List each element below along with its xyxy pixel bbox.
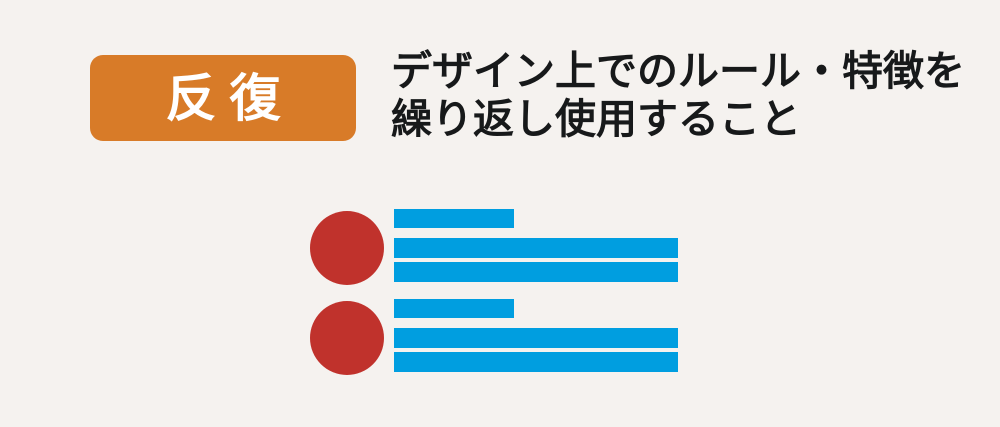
bar-short <box>394 209 514 228</box>
bullet-circle-icon <box>310 301 384 375</box>
bar-long <box>394 328 678 348</box>
bullet-circle-icon <box>310 211 384 285</box>
page-title: デザイン上でのルール・特徴を 繰り返し使用すること <box>391 47 951 143</box>
slide-canvas: 反復 デザイン上でのルール・特徴を 繰り返し使用すること <box>0 0 1000 427</box>
principle-badge: 反復 <box>90 55 356 141</box>
bar-short <box>394 299 514 318</box>
bar-stack <box>394 209 678 282</box>
repeat-group-1 <box>310 209 690 283</box>
bar-long <box>394 352 678 372</box>
bar-long <box>394 262 678 282</box>
principle-badge-label: 反復 <box>152 73 293 124</box>
bar-long <box>394 238 678 258</box>
bar-stack <box>394 299 678 372</box>
headline-line-2: 繰り返し使用すること <box>391 95 951 143</box>
repeat-group-2 <box>310 299 690 373</box>
headline-line-1: デザイン上でのルール・特徴を <box>391 47 951 95</box>
